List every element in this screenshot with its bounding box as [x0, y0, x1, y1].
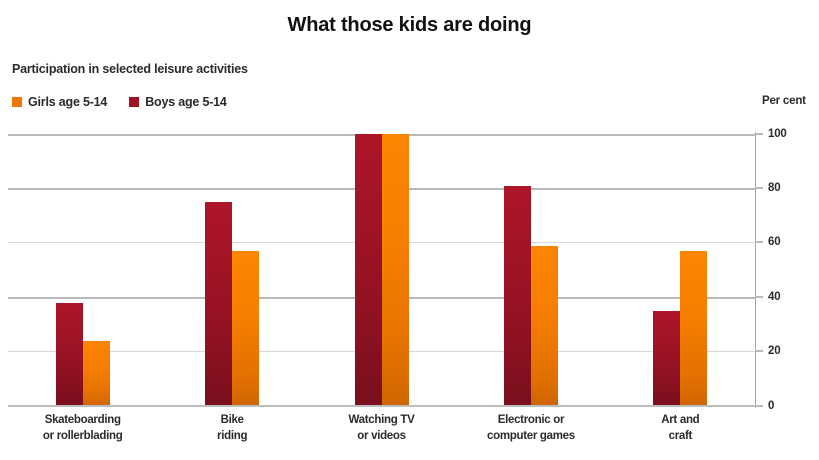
legend-item-girls[interactable]: Girls age 5-14: [12, 95, 107, 109]
y-axis-label-60: 60: [768, 236, 780, 248]
y-axis-label-80: 80: [768, 182, 780, 194]
y-tick-100: [755, 133, 763, 135]
x-axis-category-labels: Skateboarding or rollerblading Bike ridi…: [8, 410, 755, 456]
y-tick-40: [755, 296, 763, 298]
chart-container: What those kids are doing Participation …: [0, 0, 819, 460]
bar-groups: [8, 134, 755, 406]
category-label-line2: craft: [606, 428, 755, 444]
y-axis-label-20: 20: [768, 345, 780, 357]
y-axis-label-100: 100: [768, 128, 787, 140]
y-tick-80: [755, 187, 763, 189]
y-axis-line: [755, 132, 756, 408]
x-axis-baseline: [8, 405, 757, 407]
legend-swatch-girls-icon: [12, 97, 22, 107]
y-axis-label-0: 0: [768, 400, 774, 412]
bar-group-watching-tv: [307, 134, 456, 406]
bar-girls-electronic-games[interactable]: [531, 246, 558, 406]
category-label-skateboarding: Skateboarding or rollerblading: [8, 410, 157, 456]
bar-boys-watching-tv[interactable]: [355, 134, 382, 406]
y-tick-0: [755, 405, 763, 407]
category-label-line2: computer games: [456, 428, 605, 444]
category-label-line2: riding: [157, 428, 306, 444]
bar-girls-bike-riding[interactable]: [232, 251, 259, 406]
legend-item-boys[interactable]: Boys age 5-14: [129, 95, 226, 109]
bar-boys-skateboarding[interactable]: [56, 303, 83, 406]
category-label-line1: Watching TV: [349, 414, 415, 426]
bar-group-skateboarding: [8, 134, 157, 406]
chart-legend: Girls age 5-14 Boys age 5-14: [12, 95, 227, 109]
legend-swatch-boys-icon: [129, 97, 139, 107]
legend-label-boys: Boys age 5-14: [145, 95, 226, 109]
category-label-line1: Skateboarding: [45, 414, 121, 426]
category-label-line1: Electronic or: [498, 414, 564, 426]
bar-group-art-and-craft: [606, 134, 755, 406]
category-label-watching-tv: Watching TV or videos: [307, 410, 456, 456]
y-tick-20: [755, 350, 763, 352]
y-axis-label-40: 40: [768, 291, 780, 303]
bar-girls-skateboarding[interactable]: [83, 341, 110, 406]
bar-girls-art-and-craft[interactable]: [680, 251, 707, 406]
category-label-bike-riding: Bike riding: [157, 410, 306, 456]
bar-girls-watching-tv[interactable]: [382, 134, 409, 406]
y-tick-60: [755, 241, 763, 243]
chart-subtitle: Participation in selected leisure activi…: [12, 62, 248, 76]
bar-boys-electronic-games[interactable]: [504, 186, 531, 406]
bar-group-electronic-games: [456, 134, 605, 406]
category-label-line1: Bike: [221, 414, 244, 426]
category-label-electronic-games: Electronic or computer games: [456, 410, 605, 456]
category-label-line2: or videos: [307, 428, 456, 444]
chart-title: What those kids are doing: [0, 14, 819, 37]
y-axis-unit-label: Per cent: [762, 95, 806, 107]
bar-group-bike-riding: [157, 134, 306, 406]
category-label-line1: Art and: [661, 414, 699, 426]
bar-boys-art-and-craft[interactable]: [653, 311, 680, 406]
bar-boys-bike-riding[interactable]: [205, 202, 232, 406]
category-label-line2: or rollerblading: [8, 428, 157, 444]
legend-label-girls: Girls age 5-14: [28, 95, 107, 109]
category-label-art-and-craft: Art and craft: [606, 410, 755, 456]
